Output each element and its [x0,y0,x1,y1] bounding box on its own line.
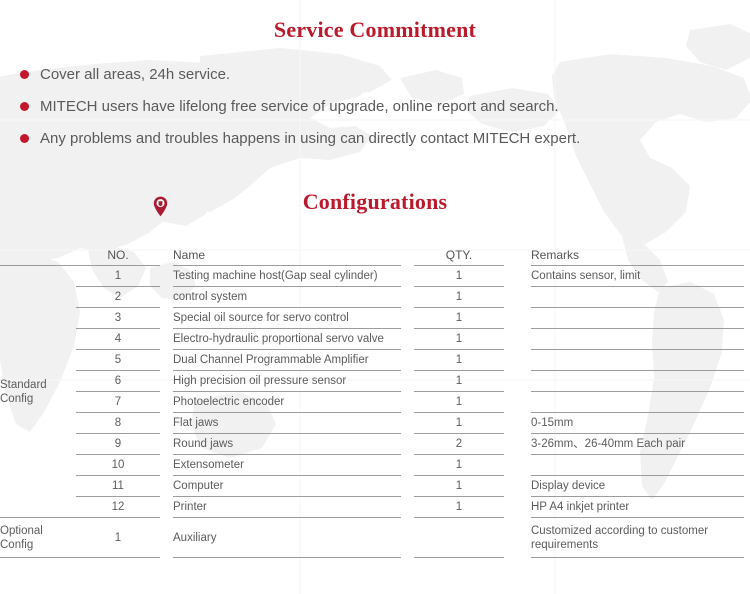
cell-qty: 1 [414,287,504,308]
column-gap [160,245,173,266]
page-title-configurations: Configurations [0,189,750,215]
column-gap [401,371,414,392]
column-gap [504,350,531,371]
column-gap [744,329,750,350]
list-item: MITECH users have lifelong free service … [20,96,720,128]
cell-remarks: 3-26mm、26-40mm Each pair [531,434,744,455]
cell-name: Dual Channel Programmable Amplifier [173,350,401,371]
column-gap [401,497,414,518]
column-gap [744,245,750,266]
configurations-table: NO.NameQTY.RemarksStandardConfig1Testing… [0,245,750,558]
cell-remarks [531,392,744,413]
column-gap [401,266,414,287]
column-gap [744,518,750,558]
table-row: OptionalConfig1AuxiliaryCustomized accor… [0,518,750,558]
cell-qty: 1 [414,350,504,371]
column-gap [160,308,173,329]
cell-name: control system [173,287,401,308]
cell-name: Testing machine host(Gap seal cylinder) [173,266,401,287]
table-row: 8Flat jaws10-15mm [0,413,750,434]
cell-qty: 1 [414,413,504,434]
column-gap [504,455,531,476]
column-gap [401,329,414,350]
cell-name: Special oil source for servo control [173,308,401,329]
list-item-text: MITECH users have lifelong free service … [40,96,559,118]
cell-remarks: HP A4 inkjet printer [531,497,744,518]
cell-remarks: Display device [531,476,744,497]
cell-name: High precision oil pressure sensor [173,371,401,392]
cell-no: 6 [76,371,160,392]
cell-name: Printer [173,497,401,518]
cell-no: 1 [76,518,160,558]
cell-no: 11 [76,476,160,497]
column-gap [504,497,531,518]
column-gap [504,266,531,287]
column-gap [401,455,414,476]
cell-name: Photoelectric encoder [173,392,401,413]
group-label-standard-config: StandardConfig [0,266,76,518]
column-gap [401,392,414,413]
list-item-text: Any problems and troubles happens in usi… [40,128,580,150]
table-row: 5Dual Channel Programmable Amplifier1 [0,350,750,371]
column-gap [160,329,173,350]
column-gap [160,455,173,476]
cell-qty: 1 [414,455,504,476]
cell-qty: 1 [414,308,504,329]
group-label-optional-config: OptionalConfig [0,518,76,558]
table-row: 2control system1 [0,287,750,308]
list-item: Any problems and troubles happens in usi… [20,128,720,160]
table-row: 9Round jaws23-26mm、26-40mm Each pair [0,434,750,455]
column-gap [744,476,750,497]
cell-no: 10 [76,455,160,476]
table-row: 4Electro-hydraulic proportional servo va… [0,329,750,350]
column-gap [160,413,173,434]
cell-remarks [531,329,744,350]
cell-remarks: Contains sensor, limit [531,266,744,287]
column-gap [401,245,414,266]
cell-remarks [531,371,744,392]
cell-no: 2 [76,287,160,308]
column-gap [744,287,750,308]
cell-qty: 1 [414,497,504,518]
column-header-no: NO. [76,245,160,266]
table-row: StandardConfig1Testing machine host(Gap … [0,266,750,287]
group-label-line-1: Optional [0,524,76,538]
column-gap [401,518,414,558]
column-header-name: Name [173,245,401,266]
column-gap [160,518,173,558]
column-gap [744,455,750,476]
column-gap [504,329,531,350]
column-gap [401,413,414,434]
table-row: 7Photoelectric encoder1 [0,392,750,413]
cell-no: 3 [76,308,160,329]
column-gap [504,476,531,497]
table-row: 3Special oil source for servo control1 [0,308,750,329]
page-title-service-commitment: Service Commitment [0,17,750,43]
cell-qty: 1 [414,392,504,413]
cell-remarks: 0-15mm [531,413,744,434]
column-gap [401,287,414,308]
cell-no: 12 [76,497,160,518]
table-row: 12Printer1HP A4 inkjet printer [0,497,750,518]
cell-no: 4 [76,329,160,350]
column-gap [744,413,750,434]
cell-qty: 1 [414,476,504,497]
cell-name: Computer [173,476,401,497]
cell-qty: 2 [414,434,504,455]
column-gap [160,287,173,308]
list-item-text: Cover all areas, 24h service. [40,64,230,86]
cell-remarks [531,308,744,329]
list-item: Cover all areas, 24h service. [20,64,720,96]
column-gap [504,308,531,329]
column-gap [401,476,414,497]
cell-qty [414,518,504,558]
table-header-row: NO.NameQTY.Remarks [0,245,750,266]
column-gap [504,287,531,308]
column-gap [744,308,750,329]
cell-name: Round jaws [173,434,401,455]
group-label-line-2: Config [0,392,76,406]
column-gap [160,497,173,518]
cell-qty: 1 [414,329,504,350]
column-gap [504,518,531,558]
cell-no: 1 [76,266,160,287]
column-gap [504,392,531,413]
column-gap [160,476,173,497]
column-gap [744,434,750,455]
group-label-line-2: Config [0,538,76,552]
column-gap [744,371,750,392]
column-gap [504,413,531,434]
service-commitment-list: Cover all areas, 24h service. MITECH use… [20,64,720,160]
cell-no: 5 [76,350,160,371]
cell-name: Flat jaws [173,413,401,434]
column-gap [401,350,414,371]
column-gap [744,392,750,413]
column-gap [160,266,173,287]
bullet-dot-icon [20,102,29,111]
column-gap [504,434,531,455]
table-row: 11Computer1Display device [0,476,750,497]
cell-remarks [531,455,744,476]
column-header-qty: QTY. [414,245,504,266]
cell-name: Auxiliary [173,518,401,558]
bullet-dot-icon [20,134,29,143]
cell-no: 7 [76,392,160,413]
table-row: 6High precision oil pressure sensor1 [0,371,750,392]
cell-no: 8 [76,413,160,434]
cell-remarks [531,350,744,371]
column-gap [504,371,531,392]
column-gap [744,497,750,518]
table-row: 10Extensometer1 [0,455,750,476]
bullet-dot-icon [20,70,29,79]
column-gap [401,308,414,329]
column-gap [160,350,173,371]
column-gap [160,392,173,413]
column-gap [401,434,414,455]
column-gap [744,350,750,371]
column-gap [744,266,750,287]
column-gap [504,245,531,266]
cell-no: 9 [76,434,160,455]
cell-remarks: Customized according to customer require… [531,518,744,558]
page-root: Service Commitment Cover all areas, 24h … [0,0,750,594]
column-gap [160,371,173,392]
column-header-remarks: Remarks [531,245,744,266]
column-gap [160,434,173,455]
cell-qty: 1 [414,266,504,287]
cell-name: Electro-hydraulic proportional servo val… [173,329,401,350]
group-label-line-1: Standard [0,378,76,392]
column-header-group [0,245,76,266]
cell-qty: 1 [414,371,504,392]
cell-name: Extensometer [173,455,401,476]
cell-remarks [531,287,744,308]
